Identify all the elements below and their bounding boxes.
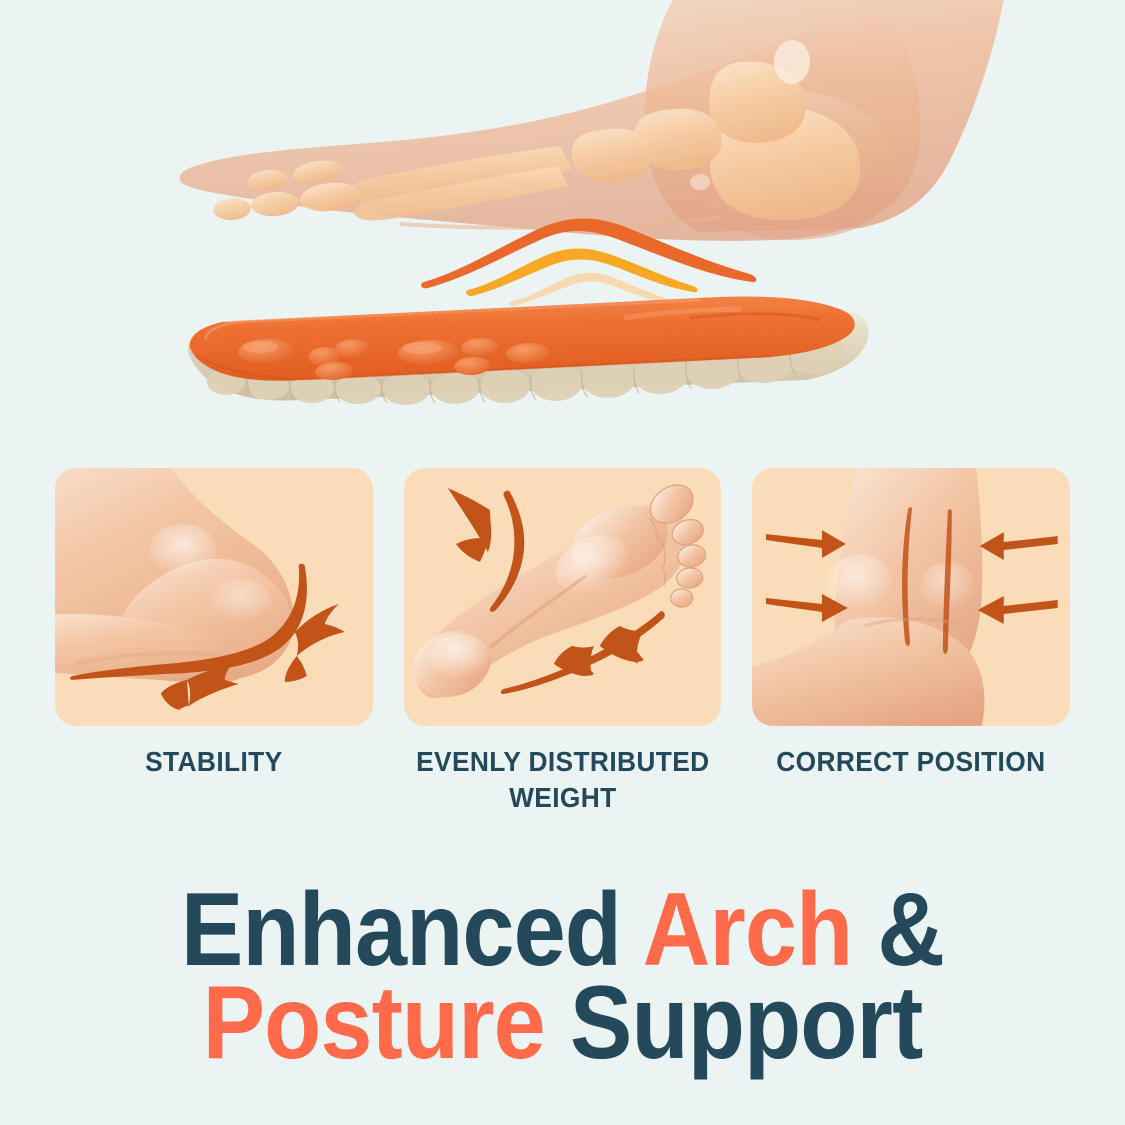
orthopedic-insole: [188, 297, 869, 406]
feature-panel-evenly-distributed-weight[interactable]: [404, 468, 722, 726]
feature-captions: STABILITY EVENLY DISTRIBUTED WEIGHT CORR…: [55, 744, 1070, 816]
headline: Enhanced Arch & Posture Support: [56, 884, 1069, 1069]
caption-stability: STABILITY: [65, 744, 364, 816]
alignment-arrows-right: [978, 532, 1058, 624]
anatomical-foot: [180, 0, 1010, 241]
hero-illustration: [0, 0, 1125, 450]
caption-evenly-distributed-weight: EVENLY DISTRIBUTED WEIGHT: [413, 744, 712, 816]
headline-accent-posture: Posture: [203, 965, 545, 1081]
product-feature-graphic: STABILITY EVENLY DISTRIBUTED WEIGHT CORR…: [0, 0, 1125, 1125]
feature-panel-correct-position[interactable]: [752, 468, 1070, 726]
feature-panels: [55, 468, 1070, 726]
headline-line-1: Enhanced Arch &: [56, 884, 1069, 977]
caption-correct-position: CORRECT POSITION: [762, 744, 1061, 816]
foot-sole-view-pressure-arrows-illustration: [404, 468, 722, 726]
headline-line-2: Posture Support: [56, 977, 1069, 1070]
headline-text-support: Support: [545, 965, 923, 1081]
foot-side-view-arch-arrows-illustration: [55, 468, 373, 726]
hero-svg: [0, 0, 1125, 450]
ankle-rear-view-alignment-arrows-illustration: [752, 468, 1070, 726]
feature-panel-stability[interactable]: [55, 468, 373, 726]
